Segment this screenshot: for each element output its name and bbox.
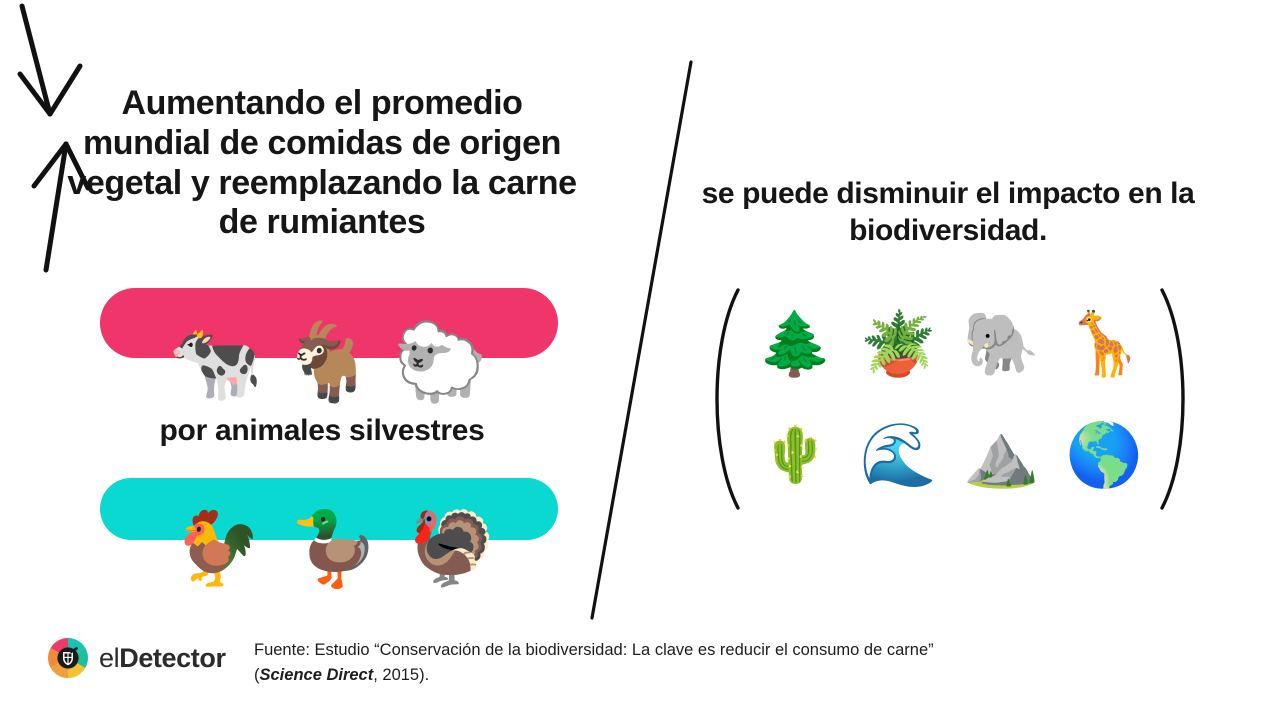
goat-emoji: 🐐 — [281, 324, 376, 400]
footer: elDetector Fuente: Estudio “Conservación… — [0, 628, 1280, 720]
eldetector-logo-text: elDetector — [99, 643, 226, 674]
sheep-emoji: 🐑 — [393, 324, 488, 400]
potted-plant-emoji: 🪴 — [860, 313, 937, 375]
eldetector-logo[interactable]: elDetector — [46, 636, 226, 680]
giraffe-emoji: 🦒 — [1066, 313, 1143, 375]
evergreen-tree-emoji: 🌲 — [757, 313, 834, 375]
elephant-emoji: 🐘 — [963, 313, 1040, 375]
left-parenthesis — [700, 286, 746, 512]
logo-prefix: el — [99, 643, 119, 673]
water-wave-emoji: 🌊 — [860, 424, 937, 486]
logo-name: Detector — [119, 643, 225, 673]
turkey-emoji: 🦃 — [407, 512, 497, 584]
up-arrow-glyph — [0, 130, 120, 275]
biodiversity-group: 🌲 🪴 🐘 🦒 🌵 🌊 ⛰️ 🌎 — [700, 286, 1200, 512]
source-citation: Fuente: Estudio “Conservación de la biod… — [254, 638, 954, 688]
infographic-canvas: Aumentando el promedio mundial de comida… — [0, 0, 1280, 720]
mountain-emoji: ⛰️ — [963, 424, 1040, 486]
source-text-after: , 2015). — [373, 666, 429, 684]
down-arrow — [0, 0, 120, 130]
source-publication: Science Direct — [260, 666, 374, 684]
rooster-emoji: 🐓 — [172, 512, 262, 584]
cow-emoji: 🐄 — [168, 324, 263, 400]
biodiversity-emoji-grid: 🌲 🪴 🐘 🦒 🌵 🌊 ⛰️ 🌎 — [744, 288, 1156, 510]
right-headline: se puede disminuir el impacto en la biod… — [668, 176, 1228, 249]
up-arrow — [0, 130, 120, 275]
right-parenthesis — [1154, 286, 1200, 512]
down-arrow-glyph — [0, 0, 120, 130]
left-subhead: por animales silvestres — [62, 414, 582, 448]
left-headline: Aumentando el promedio mundial de comida… — [62, 84, 582, 243]
cactus-emoji: 🌵 — [762, 428, 829, 482]
poultry-emoji-row: 🐓 🦆 🦃 — [172, 474, 552, 584]
duck-emoji: 🦆 — [290, 512, 380, 584]
livestock-emoji-row: 🐄 🐐 🐑 — [168, 290, 548, 400]
eldetector-logo-mark — [46, 636, 90, 680]
globe-americas-emoji: 🌎 — [1066, 424, 1143, 486]
